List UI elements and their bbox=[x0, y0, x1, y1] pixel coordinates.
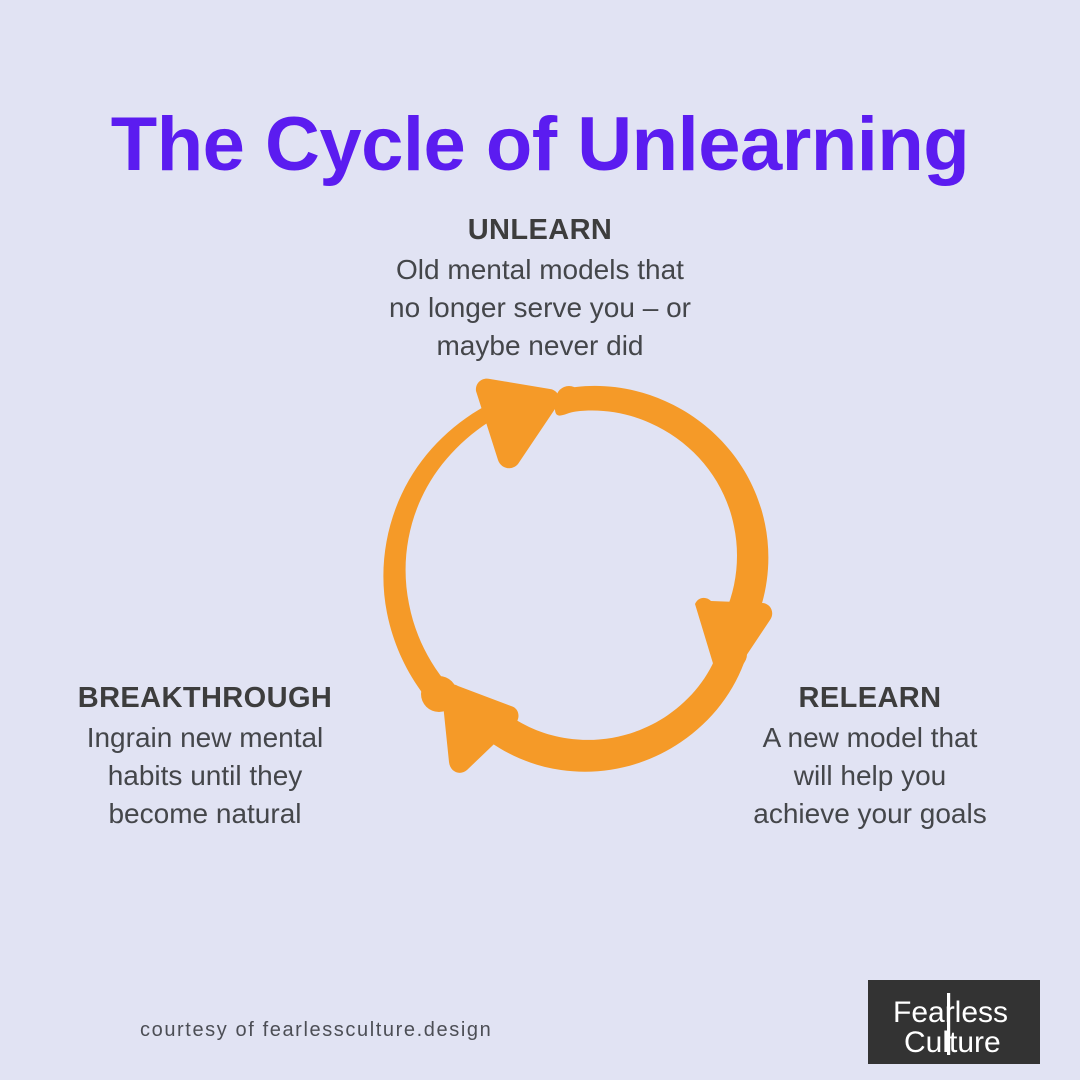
arc-breakthrough-start-round bbox=[421, 676, 457, 712]
arc-breakthrough-to-unlearn bbox=[383, 399, 506, 706]
logo-line-2: Culture bbox=[904, 1026, 1001, 1059]
stage-breakthrough-description: Ingrain new mental habits until they bec… bbox=[40, 719, 370, 833]
stage-relearn-title: RELEARN bbox=[700, 680, 1040, 716]
fearless-culture-logo: Fearless Culture bbox=[868, 980, 1040, 1064]
logo-svg: Fearless Culture bbox=[868, 980, 1040, 1064]
arc-unlearn-to-relearn bbox=[576, 386, 768, 626]
stage-relearn-description: A new model that will help you achieve y… bbox=[700, 719, 1040, 833]
stage-breakthrough: BREAKTHROUGH Ingrain new mental habits u… bbox=[40, 680, 370, 833]
arrowhead-unlearn bbox=[476, 379, 559, 469]
logo-line-1: Fearless bbox=[893, 996, 1008, 1029]
logo-vertical-stroke bbox=[947, 993, 950, 1055]
arc-unlearn-start-round bbox=[556, 386, 582, 412]
stage-unlearn: UNLEARN Old mental models that no longer… bbox=[290, 212, 790, 365]
stage-breakthrough-title: BREAKTHROUGH bbox=[40, 680, 370, 716]
page-title: The Cycle of Unlearning bbox=[0, 107, 1080, 183]
stage-relearn: RELEARN A new model that will help you a… bbox=[700, 680, 1040, 833]
footer-credit: courtesy of fearlessculture.design bbox=[140, 1019, 492, 1042]
infographic-canvas: The Cycle of Unlearning bbox=[0, 0, 1080, 1080]
stage-unlearn-description: Old mental models that no longer serve y… bbox=[290, 251, 790, 365]
stage-unlearn-title: UNLEARN bbox=[290, 212, 790, 248]
arc-relearn-start-round bbox=[717, 639, 747, 669]
